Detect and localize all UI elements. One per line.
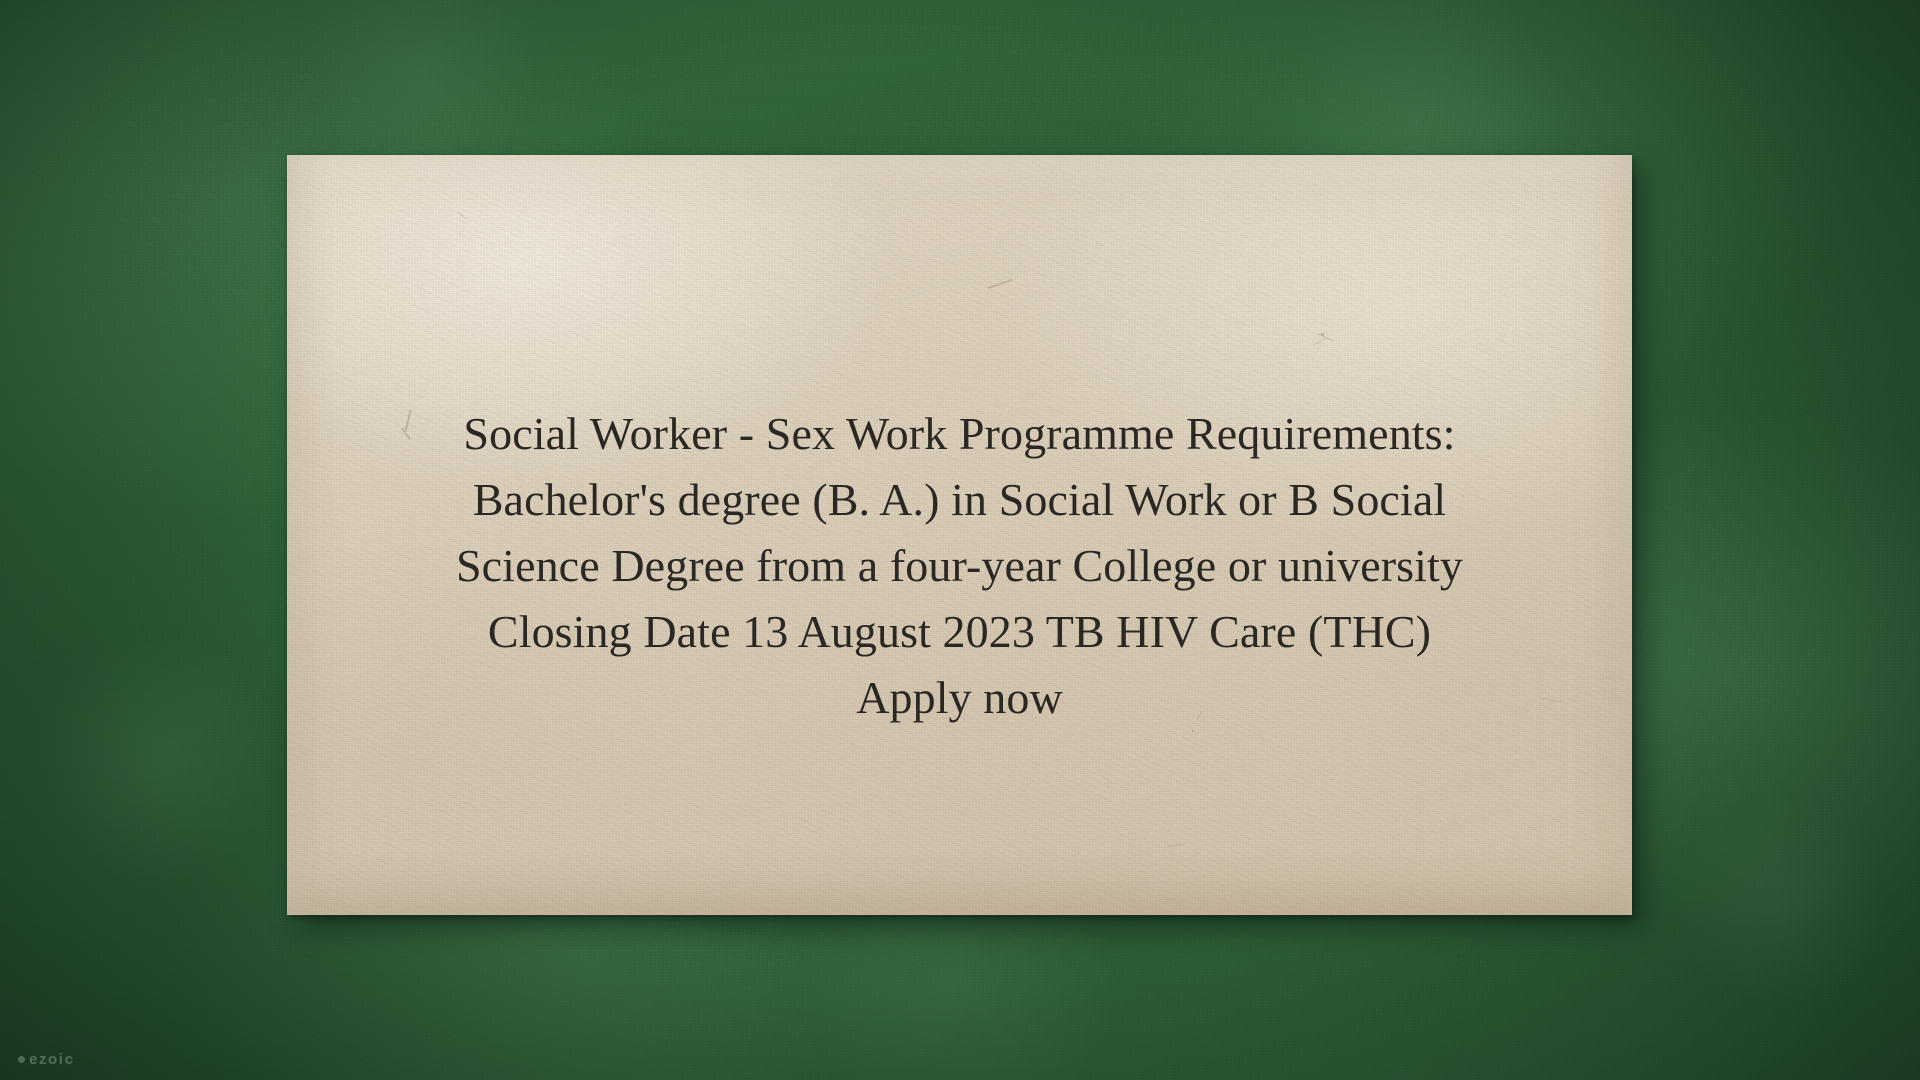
- message-line-2: Bachelor's degree (B. A.) in Social Work…: [315, 467, 1604, 533]
- job-posting-text: Social Worker - Sex Work Programme Requi…: [287, 401, 1632, 731]
- message-line-1: Social Worker - Sex Work Programme Requi…: [315, 401, 1604, 467]
- paper-fleck: [587, 855, 589, 857]
- paper-fleck: [458, 212, 466, 219]
- paper-fleck: [1321, 333, 1324, 336]
- message-line-3: Science Degree from a four-year College …: [315, 533, 1604, 599]
- message-line-4: Closing Date 13 August 2023 TB HIV Care …: [315, 599, 1604, 665]
- paper-card: Social Worker - Sex Work Programme Requi…: [287, 155, 1632, 915]
- screenshot-canvas: Social Worker - Sex Work Programme Requi…: [0, 0, 1920, 1080]
- paper-fleck: [1318, 333, 1335, 341]
- message-line-5: Apply now: [315, 665, 1604, 731]
- paper-fleck: [987, 279, 1012, 289]
- paper-fleck: [1314, 338, 1327, 346]
- paper-fleck: [1167, 844, 1183, 848]
